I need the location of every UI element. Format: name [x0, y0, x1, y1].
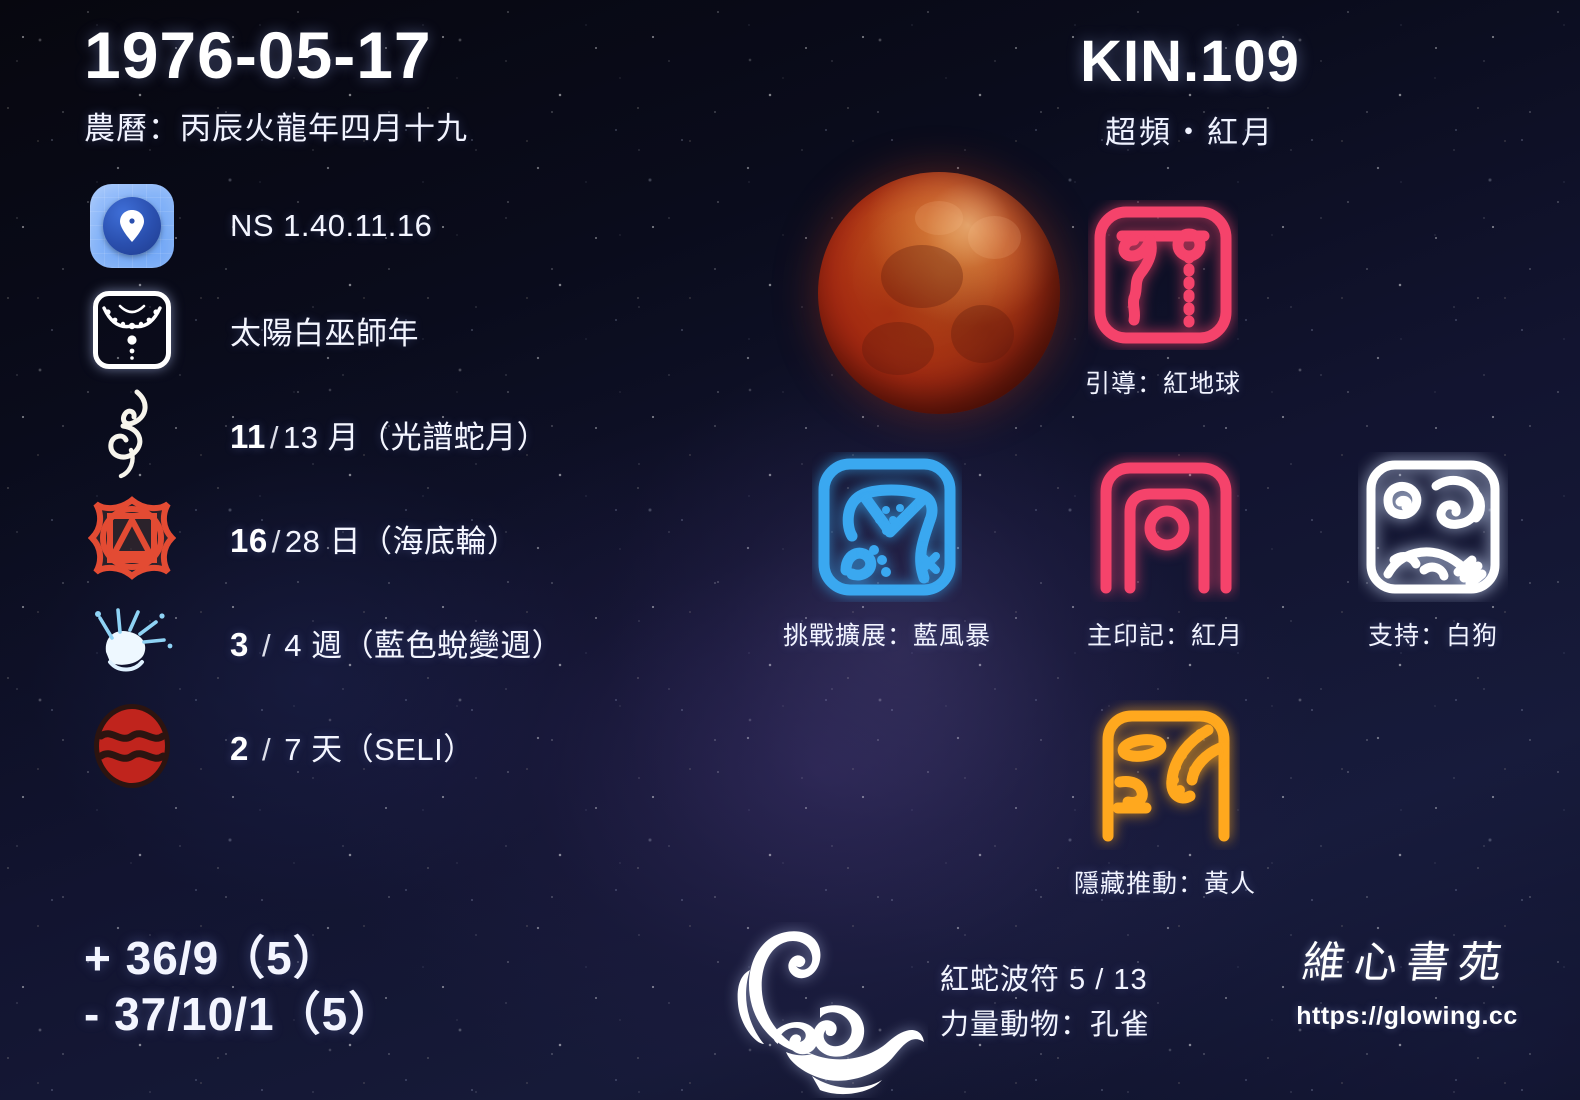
glyph-challenge: 挑戰擴展：藍風暴	[812, 452, 1017, 652]
peacock-ornament-art	[716, 922, 928, 1098]
location-pin-app-icon	[84, 184, 180, 268]
plasma-unit: 天	[311, 732, 343, 767]
red-moon-glyph-icon	[1090, 452, 1240, 602]
day-total: 28	[285, 524, 320, 559]
year-seal-text: 太陽白巫師年	[230, 308, 419, 353]
week-current: 3	[230, 626, 249, 663]
ns-signature-text: NS 1.40.11.16	[230, 208, 432, 244]
row-ns-signature: NS 1.40.11.16	[84, 174, 724, 278]
day-current: 16	[230, 522, 268, 559]
water-splash-icon	[84, 602, 180, 682]
week-unit: 週	[311, 628, 343, 663]
white-wizard-year-glyph-icon	[84, 291, 180, 369]
row-month: 11/13 月（光譜蛇月）	[84, 382, 724, 486]
brand-name-cn: 維心書苑	[1278, 928, 1536, 990]
watermark: 維心書苑 https://glowing.cc	[1282, 928, 1532, 1031]
row-plasma: 2 / 7 天（SELI）	[84, 694, 724, 798]
blood-moon-image	[818, 172, 1060, 414]
brand-url[interactable]: https://glowing.cc	[1282, 1002, 1532, 1031]
poster-canvas: 1976-05-17 農曆：丙辰火龍年四月十九 NS 1.40.11.16	[0, 0, 1580, 1100]
row-week: 3 / 4 週（藍色蛻變週）	[84, 590, 724, 694]
week-name: （藍色蛻變週）	[343, 628, 564, 663]
kin-subtitle: 超頻・紅月	[1040, 107, 1340, 152]
month-text: 11/13 月（光譜蛇月）	[230, 412, 548, 457]
glyph-challenge-label: 挑戰擴展：藍風暴	[757, 616, 1017, 652]
glyph-hidden: 隱藏推動：黃人	[1090, 700, 1285, 900]
glyph-main: 主印記：紅月	[1090, 452, 1285, 652]
glyph-support: 支持：白狗	[1358, 452, 1548, 652]
white-dog-seal-art	[1358, 452, 1508, 602]
glyph-guide: 引導：紅地球	[1088, 200, 1268, 400]
plasma-text: 2 / 7 天（SELI）	[230, 724, 475, 769]
peacock-ornament-icon	[716, 922, 928, 1098]
glyph-support-label: 支持：白狗	[1318, 616, 1548, 652]
lunar-date-line: 農曆：丙辰火龍年四月十九	[84, 103, 724, 148]
blue-storm-glyph-icon	[812, 452, 962, 602]
blue-storm-seal-art	[812, 452, 962, 602]
month-unit: 月	[328, 420, 360, 455]
kin-plus-line: + 36/9（5）	[84, 930, 395, 986]
glyph-main-label: 主印記：紅月	[1045, 616, 1285, 652]
pin-glyph-icon	[119, 209, 145, 243]
week-total: 4	[284, 628, 302, 663]
plasma-total: 7	[284, 732, 302, 767]
flame-swirl-art	[97, 388, 167, 480]
info-rows: NS 1.40.11.16	[84, 174, 724, 798]
day-name: （海底輪）	[361, 524, 519, 559]
yellow-human-seal-art	[1090, 700, 1240, 850]
week-text: 3 / 4 週（藍色蛻變週）	[230, 620, 563, 665]
day-unit: 日	[329, 524, 361, 559]
seli-plasma-icon	[84, 702, 180, 790]
day-text: 16/28 日（海底輪）	[230, 516, 518, 561]
row-day: 16/28 日（海底輪）	[84, 486, 724, 590]
plasma-name: （SELI）	[343, 732, 475, 767]
month-current: 11	[230, 418, 266, 455]
wavespell-block: 紅蛇波符 5 / 13 力量動物：孔雀	[940, 958, 1150, 1048]
seli-plasma-art	[91, 702, 173, 790]
yellow-human-glyph-icon	[1090, 700, 1240, 850]
red-earth-glyph-icon	[1088, 200, 1238, 350]
kin-minus-line: - 37/10/1（5）	[84, 986, 395, 1042]
left-info-panel: 1976-05-17 農曆：丙辰火龍年四月十九 NS 1.40.11.16	[84, 22, 724, 798]
glyph-guide-label: 引導：紅地球	[1058, 364, 1268, 400]
root-chakra-icon	[84, 494, 180, 582]
red-earth-seal-art	[1088, 200, 1238, 350]
wavespell-line: 紅蛇波符 5 / 13	[940, 958, 1150, 1003]
white-flame-moon-icon	[84, 388, 180, 480]
water-splash-art	[86, 602, 178, 682]
glyph-hidden-label: 隱藏推動：黃人	[1045, 864, 1285, 900]
red-moon-seal-art	[1090, 452, 1240, 602]
row-year-seal: 太陽白巫師年	[84, 278, 724, 382]
kin-header: KIN.109 超頻・紅月	[1040, 28, 1340, 152]
plasma-current: 2	[230, 730, 249, 767]
white-dog-glyph-icon	[1358, 452, 1508, 602]
kin-number: KIN.109	[1040, 28, 1340, 95]
gregorian-date: 1976-05-17	[84, 22, 724, 89]
month-total: 13	[283, 420, 318, 455]
power-animal-line: 力量動物：孔雀	[940, 1003, 1150, 1048]
month-name: （光譜蛇月）	[359, 420, 548, 455]
wizard-seal-art	[98, 296, 166, 364]
root-chakra-art	[88, 494, 176, 582]
kin-offset-block: + 36/9（5） - 37/10/1（5）	[84, 930, 395, 1042]
